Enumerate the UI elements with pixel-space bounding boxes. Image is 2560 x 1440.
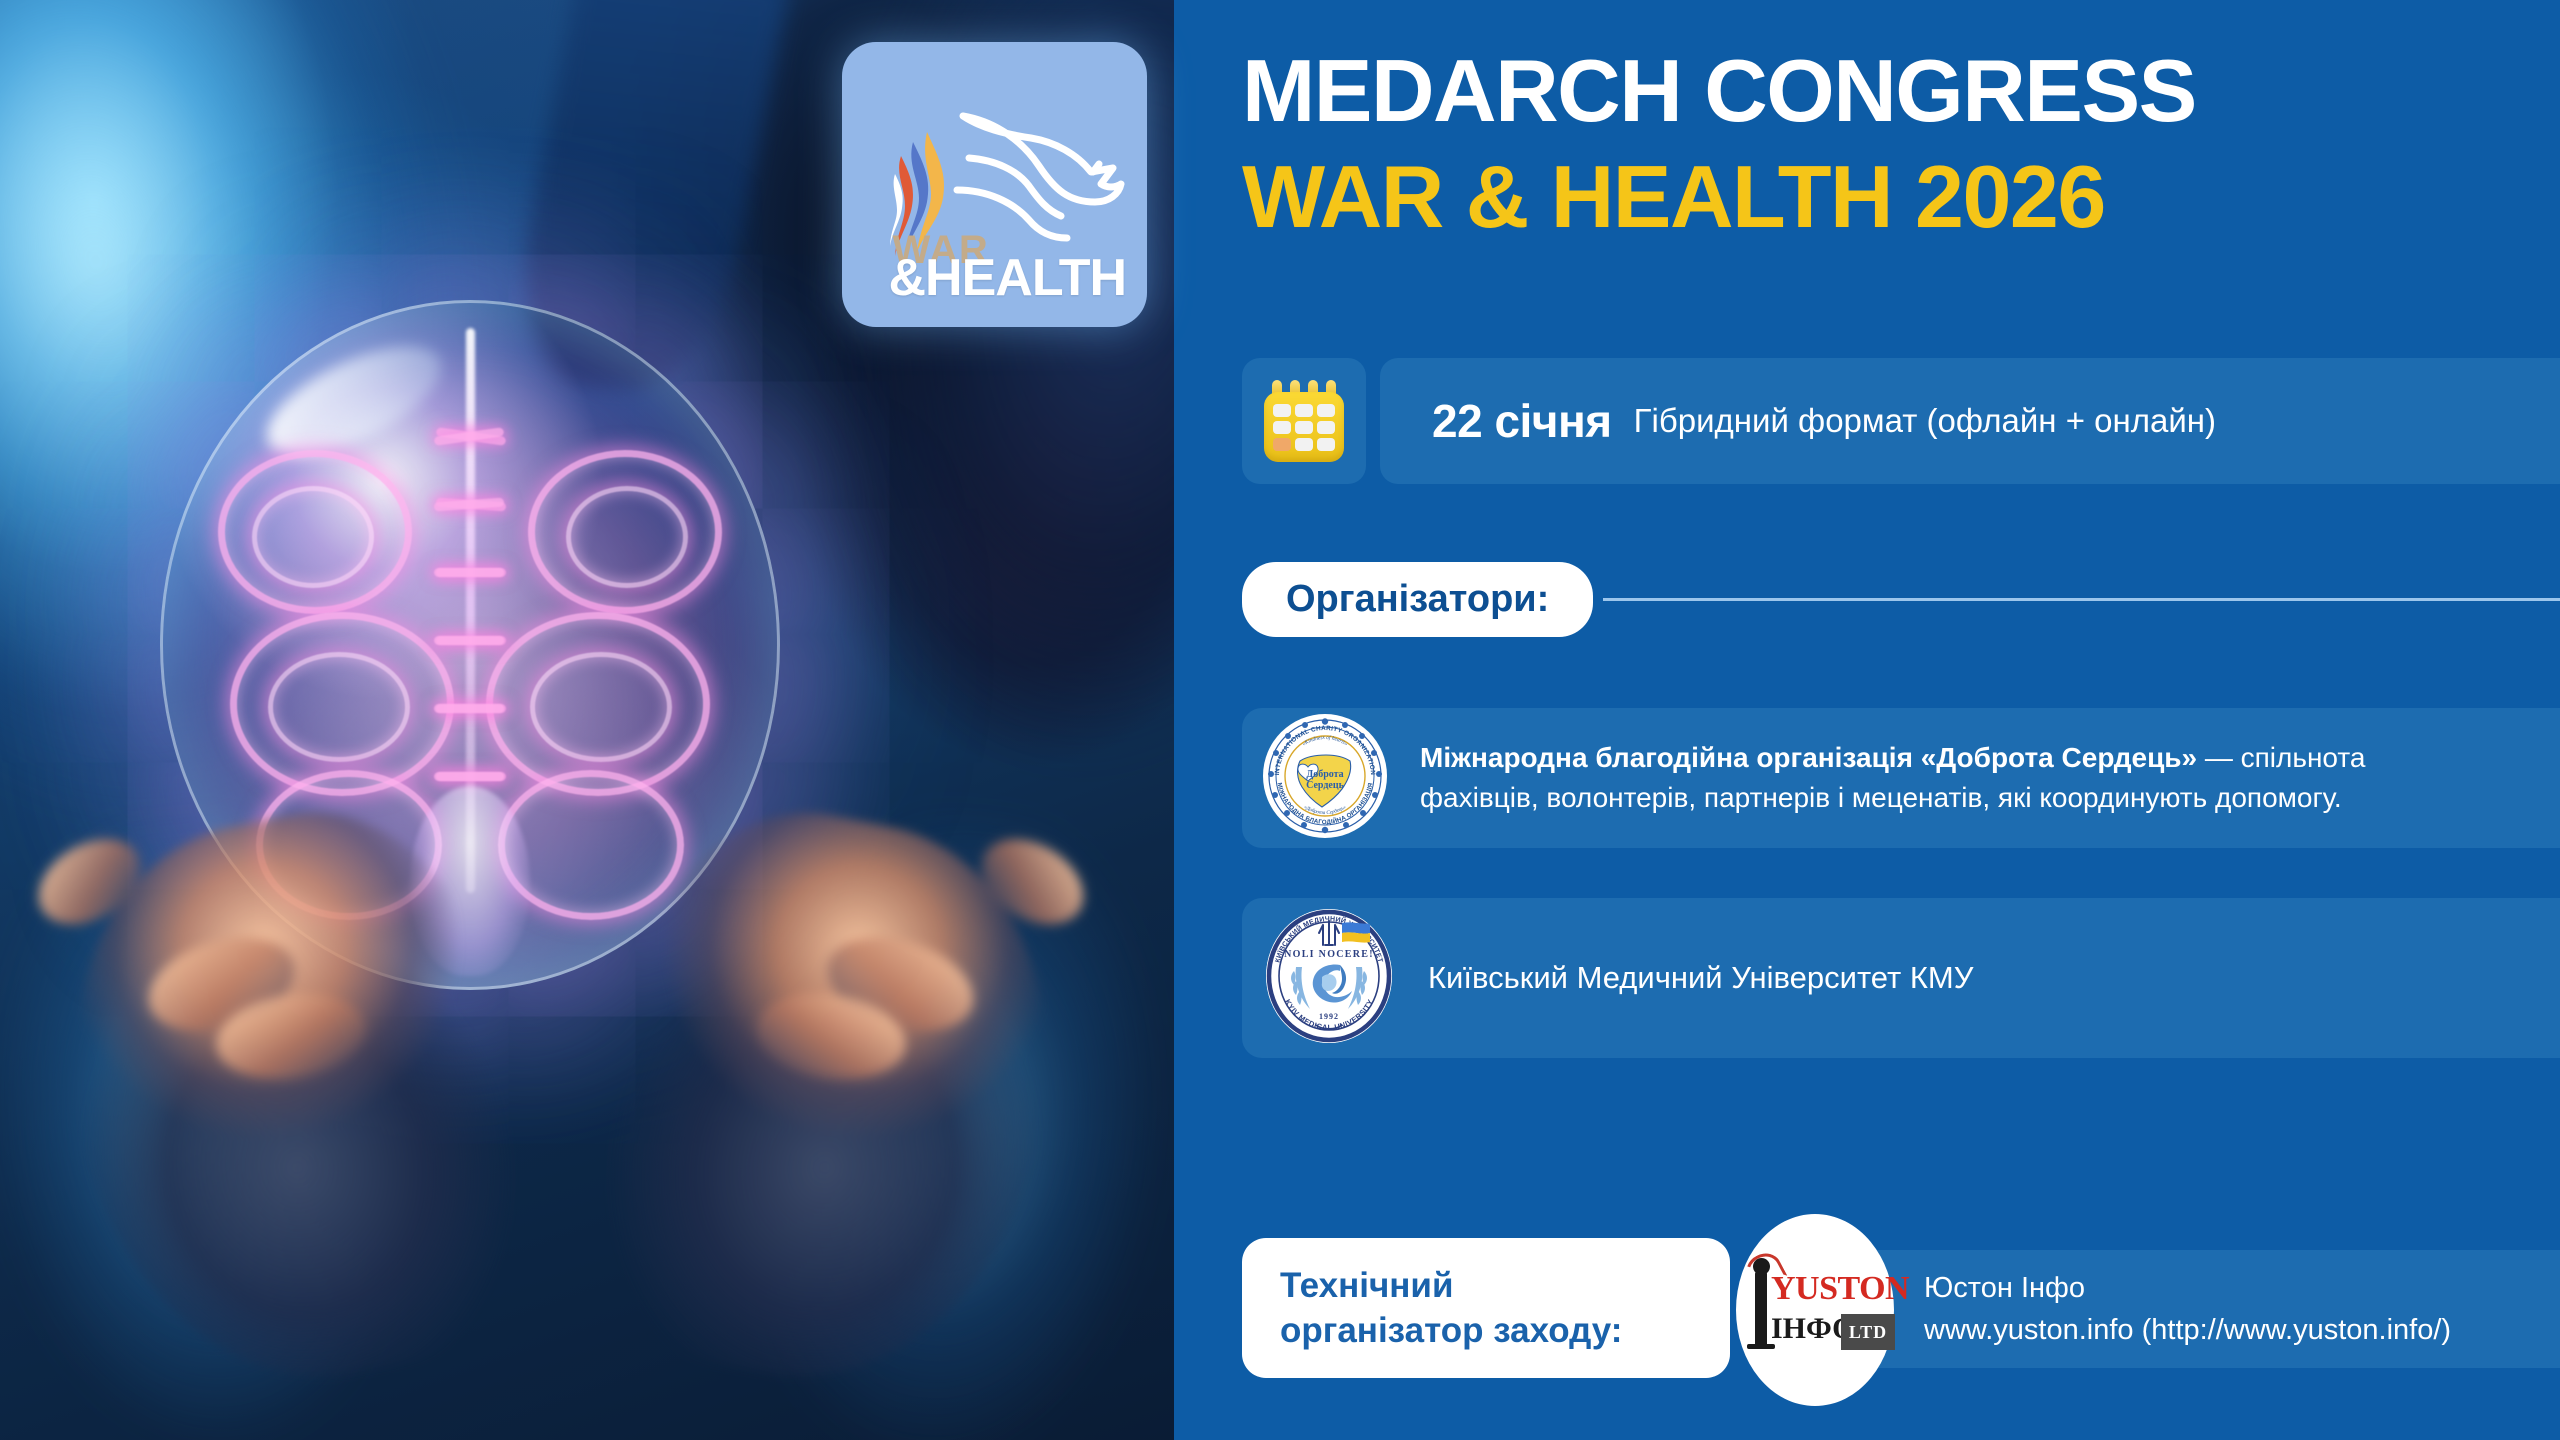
technical-organizer-label-line-1: Технічний bbox=[1280, 1263, 1730, 1309]
svg-text:NOLI NOCERE!: NOLI NOCERE! bbox=[1284, 949, 1374, 960]
dove-icon bbox=[943, 106, 1125, 242]
date-card: 22 січня Гібридний формат (офлайн + онла… bbox=[1380, 358, 2560, 484]
brain-gyrus bbox=[268, 652, 410, 762]
organizer-1-name: Міжнародна благодійна організація «Добро… bbox=[1420, 742, 2197, 773]
brain-ridge bbox=[434, 568, 504, 577]
content-panel: MEDARCH CONGRESS WAR & HEALTH 2026 bbox=[1174, 0, 2560, 1440]
organizer-row-2: КИЇВСЬКИЙ МЕДИЧНИЙ УНІВЕРСИТЕТ KYIV MEDI… bbox=[1242, 898, 2560, 1058]
event-format: Гібридний формат (офлайн + онлайн) bbox=[1634, 402, 2216, 440]
calendar-cell bbox=[1317, 438, 1335, 451]
calendar-grid bbox=[1273, 404, 1335, 451]
kindness-of-hearts-seal-icon: INTERNATIONAL CHARITY ORGANIZATION «Kind… bbox=[1266, 717, 1384, 840]
brain-ridge bbox=[434, 704, 504, 713]
title-line-1: MEDARCH CONGRESS bbox=[1242, 46, 2520, 136]
brain-gyrus bbox=[530, 652, 672, 762]
kyiv-medical-university-seal-icon: КИЇВСЬКИЙ МЕДИЧНИЙ УНІВЕРСИТЕТ KYIV MEDI… bbox=[1266, 909, 1392, 1048]
poster-root: WAR &HEALTH MEDARCH CONGRESS WAR & HEALT… bbox=[0, 0, 2560, 1440]
war-and-health-logo-badge: WAR &HEALTH bbox=[842, 42, 1147, 327]
yuston-wordmark: YUSTON bbox=[1771, 1270, 1909, 1308]
technical-organizer-label: Технічний організатор заходу: bbox=[1242, 1238, 1730, 1378]
calendar-cell-highlight bbox=[1273, 438, 1291, 451]
organizers-header: Організатори: bbox=[1242, 562, 2560, 637]
organizer-row-1: INTERNATIONAL CHARITY ORGANIZATION «Kind… bbox=[1242, 708, 2560, 848]
calendar-cell bbox=[1295, 404, 1313, 417]
technical-organizer-label-line-2: організатор заходу: bbox=[1280, 1308, 1730, 1354]
logo-word-health: &HEALTH bbox=[889, 248, 1127, 308]
brain-gyrus bbox=[566, 486, 688, 588]
organizers-divider bbox=[1603, 598, 2560, 601]
brain-ridge bbox=[434, 772, 504, 781]
page-title: MEDARCH CONGRESS WAR & HEALTH 2026 bbox=[1242, 46, 2520, 242]
calendar-cell bbox=[1317, 404, 1335, 417]
calendar-cell bbox=[1295, 421, 1313, 434]
technical-organizer-url: www.yuston.info (http://www.yuston.info/… bbox=[1924, 1309, 2451, 1351]
date-row: 22 січня Гібридний формат (офлайн + онла… bbox=[1242, 358, 2560, 484]
calendar-icon bbox=[1264, 380, 1344, 462]
calendar-cell bbox=[1295, 438, 1313, 451]
yuston-info-logo-icon: YUSTON ІНФО LTD bbox=[1736, 1214, 1894, 1406]
technical-organizer-company: Юстон Інфо bbox=[1924, 1267, 2451, 1309]
brain-gyrus bbox=[252, 486, 374, 588]
calendar-cell bbox=[1273, 421, 1291, 434]
calendar-cell bbox=[1317, 421, 1335, 434]
technical-organizer-details: Юстон Інфо www.yuston.info (http://www.y… bbox=[1924, 1267, 2451, 1351]
yuston-ltd-badge: LTD bbox=[1841, 1314, 1895, 1350]
event-date: 22 січня bbox=[1432, 394, 1612, 448]
ukraine-flag-icon bbox=[1342, 922, 1370, 942]
svg-text:Сердець: Сердець bbox=[1306, 780, 1344, 791]
calendar-cell bbox=[1273, 404, 1291, 417]
title-line-2: WAR & HEALTH 2026 bbox=[1242, 152, 2520, 242]
brain-ridge bbox=[434, 636, 504, 645]
organizer-1-text: Міжнародна благодійна організація «Добро… bbox=[1420, 738, 2520, 818]
organizer-2-name: Київський Медичний Університет КМУ bbox=[1428, 956, 2013, 1000]
technical-organizer-card: YUSTON ІНФО LTD Юстон Інфо www.yuston.in… bbox=[1774, 1250, 2560, 1368]
svg-text:1992: 1992 bbox=[1319, 1012, 1339, 1021]
organizers-label: Організатори: bbox=[1242, 562, 1593, 637]
svg-text:Доброта: Доброта bbox=[1306, 769, 1343, 780]
calendar-icon-tile bbox=[1242, 358, 1366, 484]
yuston-stem-mark bbox=[1755, 1272, 1767, 1348]
